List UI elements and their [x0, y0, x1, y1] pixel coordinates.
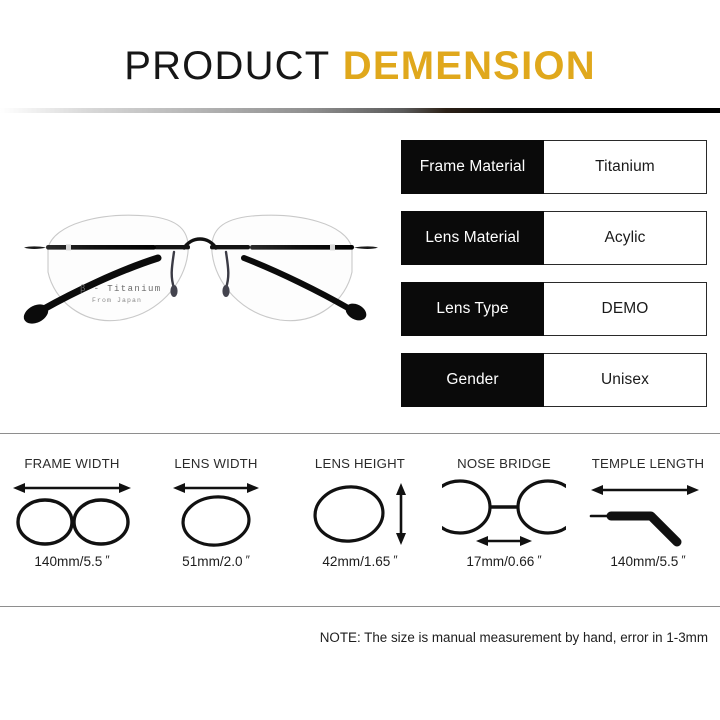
dimension-unit-mark: ″ [243, 553, 250, 567]
spec-value-lens-type: DEMO [544, 282, 707, 336]
page-title-word-demension: DEMENSION [343, 44, 596, 88]
lens-outline [312, 484, 385, 545]
arrow-head-left [173, 483, 185, 493]
spec-key-frame-material: Frame Material [401, 140, 544, 194]
right-lens [212, 215, 352, 320]
dimension-figure [301, 477, 419, 551]
dimension-value: 42mm/1.65″ [322, 553, 397, 569]
lens-etch-origin: From Japan [92, 297, 142, 304]
spec-key-lens-material: Lens Material [401, 211, 544, 265]
left-nose-pad [170, 285, 177, 297]
folded-temple-right-tip [343, 300, 369, 324]
dimension-label: LENS WIDTH [174, 456, 257, 471]
frame-width-diagram-icon [9, 478, 135, 550]
table-row: Lens Material Acylic [401, 211, 707, 265]
lens-width-diagram-icon [161, 478, 271, 550]
arrow-head-left [591, 485, 603, 495]
right-brow-bar [210, 245, 250, 249]
left-brow-bar [154, 245, 190, 249]
dimension-value: 140mm/5.5″ [610, 553, 685, 569]
arrow-head-right [119, 483, 131, 493]
arrow-head-right [247, 483, 259, 493]
page-title: PRODUCT DEMENSION [0, 44, 720, 89]
spec-key-gender: Gender [401, 353, 544, 407]
eyeglasses-product-photo: β - Titanium From Japan MOD: 81212 BLK 5… [8, 196, 392, 346]
dimension-label: FRAME WIDTH [24, 456, 119, 471]
arrow-head-bottom [396, 533, 406, 545]
dimension-value-text: 140mm/5.5 [34, 554, 102, 569]
arrow-head-left [476, 536, 488, 546]
dimension-temple-length: TEMPLE LENGTH 140mm/5.5″ [576, 434, 720, 606]
dimension-value-text: 51mm/2.0 [182, 554, 242, 569]
dimension-unit-mark: ″ [102, 553, 109, 567]
left-temple-tip [24, 246, 46, 249]
left-temple-arm [46, 245, 156, 250]
dimensions-section: FRAME WIDTH 140mm/5.5″ LENS WIDTH [0, 434, 720, 606]
spec-key-lens-type: Lens Type [401, 282, 544, 336]
table-row: Lens Type DEMO [401, 282, 707, 336]
temple-length-diagram-icon [585, 478, 711, 550]
lens-outline [181, 494, 251, 548]
dimension-label: TEMPLE LENGTH [592, 456, 705, 471]
left-lens [48, 215, 188, 320]
dimension-figure [9, 477, 135, 551]
left-lens-outline [18, 500, 72, 544]
eyeglasses-illustration [8, 196, 392, 346]
note-text: NOTE: The size is manual measurement by … [320, 630, 708, 645]
table-row: Frame Material Titanium [401, 140, 707, 194]
table-row: Gender Unisex [401, 353, 707, 407]
nose-bridge-diagram-icon [442, 477, 566, 551]
spec-value-gender: Unisex [544, 353, 707, 407]
dimension-label: NOSE BRIDGE [457, 456, 551, 471]
product-dimension-infographic: PRODUCT DEMENSION [0, 0, 720, 720]
dimension-label: LENS HEIGHT [315, 456, 405, 471]
temple-model-print: MOD: 81212 BLK 51□17-140 [251, 242, 302, 246]
spec-value-frame-material: Titanium [544, 140, 707, 194]
arrow-head-right [520, 536, 532, 546]
right-lens-outline [74, 500, 128, 544]
spec-value-lens-material: Acylic [544, 211, 707, 265]
temple-arm-shape [611, 516, 677, 542]
dimension-value-text: 140mm/5.5 [610, 554, 678, 569]
specification-table: Frame Material Titanium Lens Material Ac… [401, 140, 707, 424]
lens-etch-brand: β - Titanium [80, 284, 162, 294]
right-temple-hinge [330, 244, 335, 250]
dimension-unit-mark: ″ [534, 553, 541, 567]
dimension-nose-bridge: NOSE BRIDGE 17mm/0.66″ [432, 434, 576, 606]
lens-height-diagram-icon [301, 477, 419, 551]
right-nose-pad [222, 285, 229, 297]
right-lens-outline [518, 481, 566, 533]
left-lens-outline [442, 481, 490, 533]
dimension-value: 17mm/0.66″ [466, 553, 541, 569]
arrow-head-top [396, 483, 406, 495]
dimension-unit-mark: ″ [390, 553, 397, 567]
header-banner: PRODUCT DEMENSION [0, 0, 720, 112]
arrow-head-left [13, 483, 25, 493]
left-temple-hinge [66, 244, 71, 250]
dimension-figure [161, 477, 271, 551]
page-title-word-product: PRODUCT [124, 44, 330, 88]
dimension-value: 51mm/2.0″ [182, 553, 250, 569]
dimension-value-text: 17mm/0.66 [466, 554, 534, 569]
product-and-specs-section: β - Titanium From Japan MOD: 81212 BLK 5… [0, 112, 720, 432]
note-section: NOTE: The size is manual measurement by … [0, 607, 720, 720]
dimension-value: 140mm/5.5″ [34, 553, 109, 569]
dimension-figure [442, 477, 566, 551]
dimension-value-text: 42mm/1.65 [322, 554, 390, 569]
dimension-figure [585, 477, 711, 551]
right-temple-tip [354, 246, 378, 249]
arrow-head-right [687, 485, 699, 495]
dimension-frame-width: FRAME WIDTH 140mm/5.5″ [0, 434, 144, 606]
dimension-unit-mark: ″ [678, 553, 685, 567]
dimension-lens-width: LENS WIDTH 51mm/2.0″ [144, 434, 288, 606]
dimension-lens-height: LENS HEIGHT 42mm/1.65″ [288, 434, 432, 606]
